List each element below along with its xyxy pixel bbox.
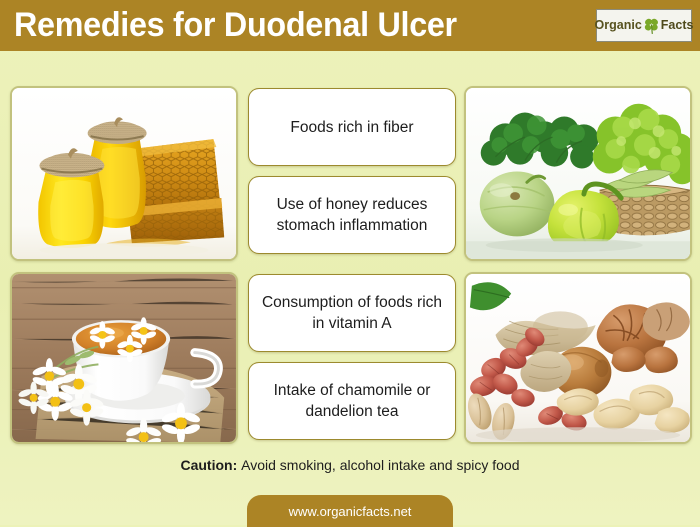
remedy-card-1[interactable]: Foods rich in fiber bbox=[248, 88, 456, 166]
remedy-card-4-text: Intake of chamomile or dandelion tea bbox=[249, 380, 455, 422]
remedy-card-2[interactable]: Use of honey reduces stomach inflammatio… bbox=[248, 176, 456, 254]
caution-text: Avoid smoking, alcohol intake and spicy … bbox=[241, 457, 519, 473]
logo-word-facts: Facts bbox=[661, 19, 694, 32]
remedy-card-4[interactable]: Intake of chamomile or dandelion tea bbox=[248, 362, 456, 440]
footer-url-pill[interactable]: www.organicfacts.net bbox=[247, 495, 453, 527]
footer-url-text: www.organicfacts.net bbox=[289, 505, 412, 518]
chamomile-tea-photo bbox=[10, 272, 238, 444]
remedy-card-1-text: Foods rich in fiber bbox=[282, 117, 421, 138]
infographic-page: Remedies for Duodenal Ulcer Organic Fact… bbox=[0, 0, 700, 525]
remedy-card-2-text: Use of honey reduces stomach inflammatio… bbox=[249, 194, 455, 236]
remedy-card-3[interactable]: Consumption of foods rich in vitamin A bbox=[248, 274, 456, 352]
header-bar: Remedies for Duodenal Ulcer Organic Fact… bbox=[0, 0, 700, 51]
page-title: Remedies for Duodenal Ulcer bbox=[14, 3, 457, 48]
honey-jars-photo bbox=[10, 86, 238, 261]
organic-facts-logo[interactable]: Organic Facts bbox=[596, 9, 692, 42]
caution-label: Caution: bbox=[180, 457, 241, 473]
remedy-card-3-text: Consumption of foods rich in vitamin A bbox=[249, 292, 455, 334]
clover-icon bbox=[643, 17, 660, 34]
green-vegetables-photo bbox=[464, 86, 692, 261]
caution-note: Caution: Avoid smoking, alcohol intake a… bbox=[0, 455, 700, 475]
logo-word-organic: Organic bbox=[595, 19, 642, 32]
mixed-nuts-photo bbox=[464, 272, 692, 444]
